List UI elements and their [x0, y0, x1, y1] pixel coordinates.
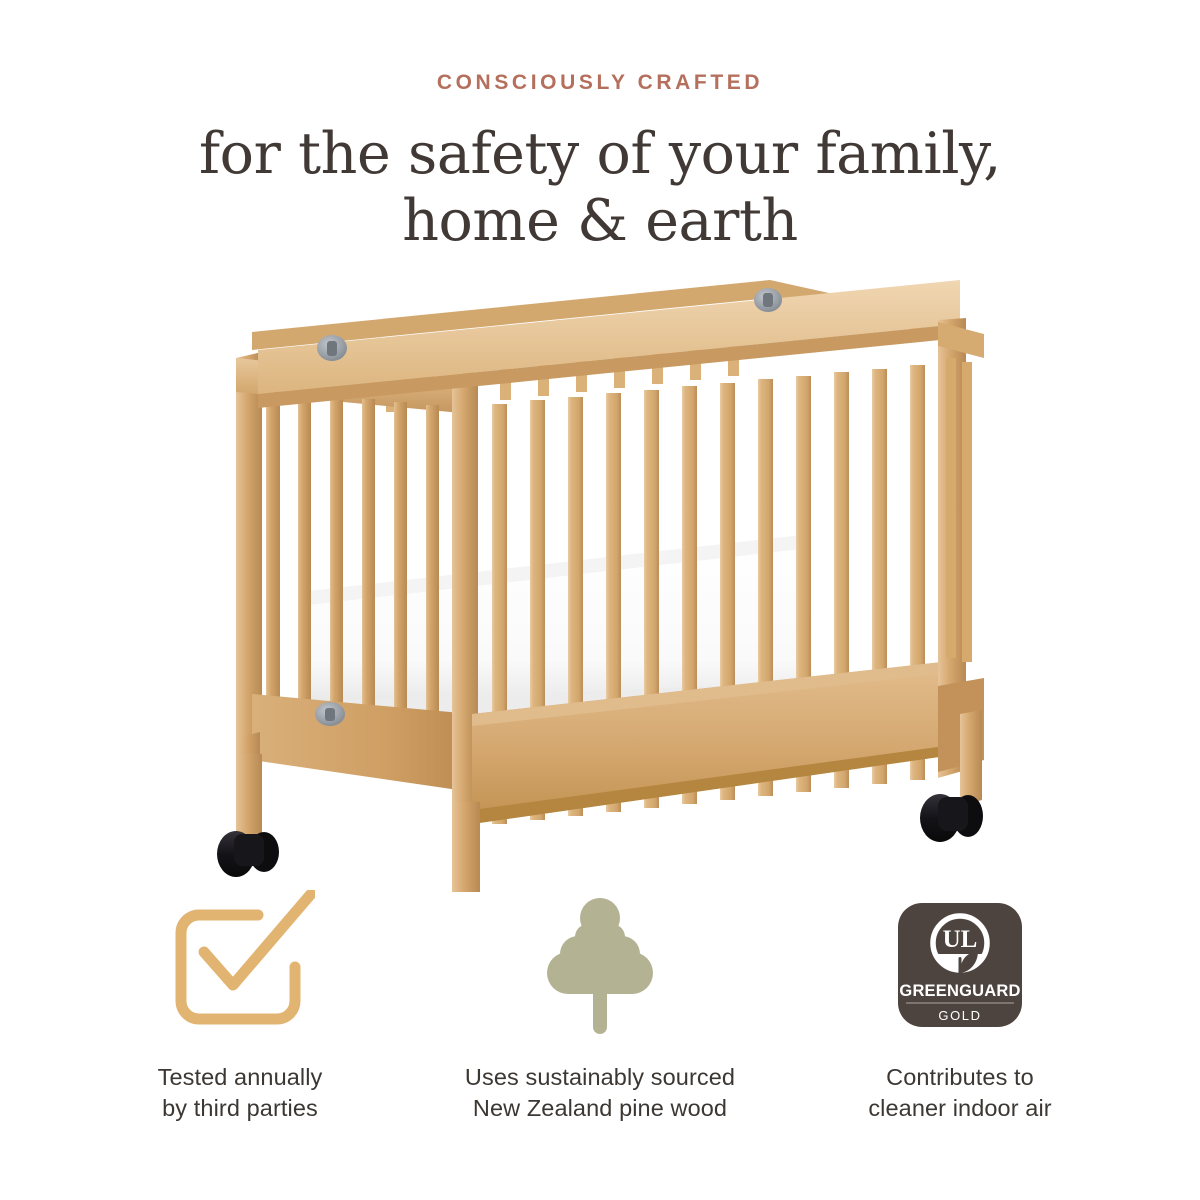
page-title-line-1: for the safety of your family,	[0, 121, 1200, 188]
page-header: CONSCIOUSLY CRAFTED for the safety of yo…	[0, 0, 1200, 256]
feature-caption-wood: Uses sustainably sourced New Zealand pin…	[465, 1062, 735, 1125]
feature-caption-air: Contributes to cleaner indoor air	[868, 1062, 1051, 1125]
feature-caption-tested: Tested annually by third parties	[158, 1062, 323, 1125]
marketing-page: CONSCIOUSLY CRAFTED for the safety of yo…	[0, 0, 1200, 1200]
feature-caption-line-1: Contributes to	[868, 1062, 1051, 1093]
feature-caption-line-2: by third parties	[158, 1093, 323, 1124]
greenguard-gold-badge-icon: UL GREENGUARD GOLD	[890, 895, 1030, 1035]
tree-icon-wrap	[525, 890, 675, 1040]
ul-mark-text: UL	[943, 926, 978, 953]
crib-illustration	[0, 262, 1200, 892]
crib-right-end-panel	[938, 318, 984, 806]
feature-caption-line-2: New Zealand pine wood	[465, 1093, 735, 1124]
crib-leg-front-left	[452, 802, 480, 892]
crib-leg-rear-left	[236, 754, 262, 838]
caster-front-right	[920, 794, 983, 842]
feature-caption-line-1: Uses sustainably sourced	[465, 1062, 735, 1093]
feature-caption-line-2: cleaner indoor air	[868, 1093, 1051, 1124]
eyebrow-text: CONSCIOUSLY CRAFTED	[0, 72, 1200, 93]
crib-casters	[217, 794, 983, 892]
caster-rear-left	[217, 831, 279, 877]
feature-tested-annually: Tested annually by third parties	[60, 890, 420, 1125]
feature-list: Tested annually by third parties	[0, 890, 1200, 1125]
page-title-line-2: home & earth	[0, 188, 1200, 255]
feature-sustainable-wood: Uses sustainably sourced New Zealand pin…	[420, 890, 780, 1125]
hinge-plate-top-left	[317, 335, 347, 361]
checkbox-check-icon-wrap	[165, 890, 315, 1040]
checkbox-check-icon	[165, 890, 315, 1040]
feature-greenguard-gold: UL GREENGUARD GOLD Contributes to cleane…	[780, 890, 1140, 1125]
greenguard-brand-text: GREENGUARD	[899, 982, 1020, 1000]
hinge-plate-bottom-left	[315, 702, 345, 726]
greenguard-gold-badge-icon-wrap: UL GREENGUARD GOLD	[890, 890, 1030, 1040]
hinge-plate-top-right	[754, 288, 782, 312]
tree-icon	[525, 890, 675, 1040]
product-hero-image	[0, 262, 1200, 892]
feature-caption-line-1: Tested annually	[158, 1062, 323, 1093]
greenguard-tier-text: GOLD	[938, 1008, 981, 1023]
page-title: for the safety of your family, home & ea…	[0, 121, 1200, 256]
